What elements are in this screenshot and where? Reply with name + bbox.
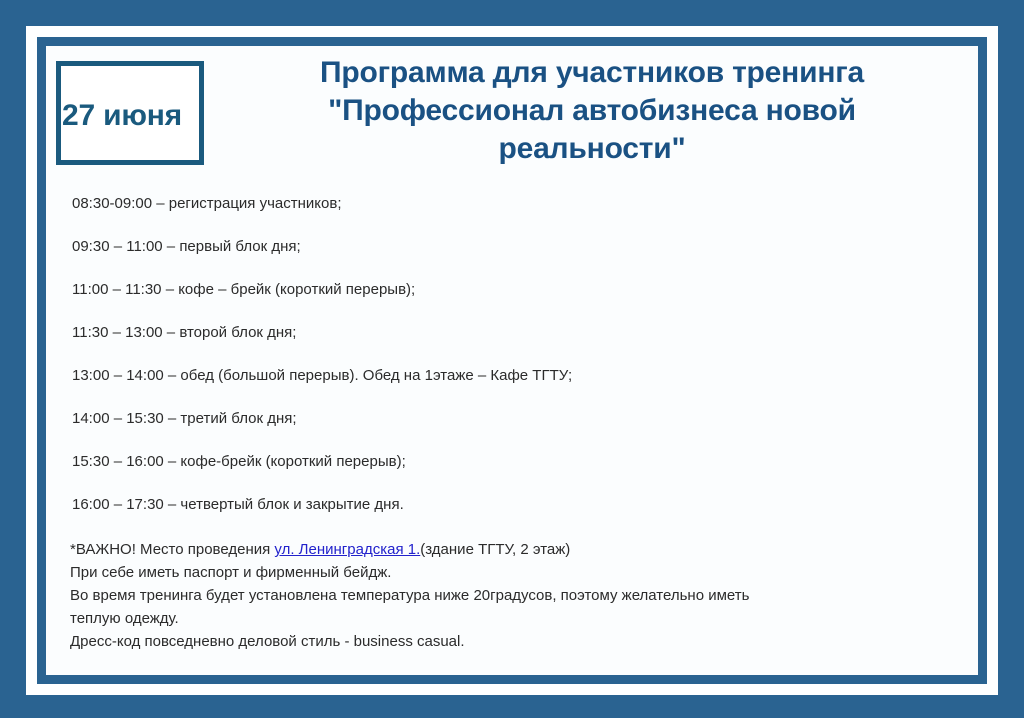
important-prefix: *ВАЖНО! Место проведения — [70, 541, 274, 558]
list-item: 14:00 – 15:30 – третий блок дня; — [72, 409, 968, 428]
title-line-2: "Профессионал автобизнеса новой — [232, 92, 952, 130]
poster-frame: 27 июня Программа для участников тренинг… — [0, 0, 1024, 718]
title-line-1: Программа для участников тренинга — [232, 54, 952, 92]
schedule-list: 08:30-09:00 – регистрация участников; 09… — [72, 194, 968, 538]
important-suffix: (здание ТГТУ, 2 этаж) — [420, 541, 570, 558]
list-item: 15:30 – 16:00 – кофе-брейк (короткий пер… — [72, 452, 968, 471]
list-item: 09:30 – 11:00 – первый блок дня; — [72, 237, 968, 256]
notes-block: *ВАЖНО! Место проведения ул. Ленинградск… — [70, 538, 968, 653]
list-item: 11:00 – 11:30 – кофе – брейк (короткий п… — [72, 280, 968, 299]
venue-address-link[interactable]: ул. Ленинградская 1. — [274, 541, 420, 558]
note-line-dresscode: Дресс-код повседневно деловой стиль - bu… — [70, 630, 968, 653]
note-line-passport: При себе иметь паспорт и фирменный бейдж… — [70, 561, 968, 584]
list-item: 11:30 – 13:00 – второй блок дня; — [72, 323, 968, 342]
list-item: 13:00 – 14:00 – обед (большой перерыв). … — [72, 366, 968, 385]
note-line-important: *ВАЖНО! Место проведения ул. Ленинградск… — [70, 538, 968, 561]
list-item: 08:30-09:00 – регистрация участников; — [72, 194, 968, 213]
page-title: Программа для участников тренинга "Профе… — [232, 54, 952, 168]
note-line-temperature-2: теплую одежду. — [70, 607, 968, 630]
note-line-temperature-1: Во время тренинга будет установлена темп… — [70, 584, 968, 607]
title-line-3: реальности" — [232, 130, 952, 168]
poster-header: 27 июня Программа для участников тренинг… — [46, 46, 978, 186]
content-sheet: 27 июня Программа для участников тренинг… — [46, 46, 978, 675]
list-item: 16:00 – 17:30 – четвертый блок и закрыти… — [72, 495, 968, 514]
date-badge-label: 27 июня — [46, 99, 201, 133]
